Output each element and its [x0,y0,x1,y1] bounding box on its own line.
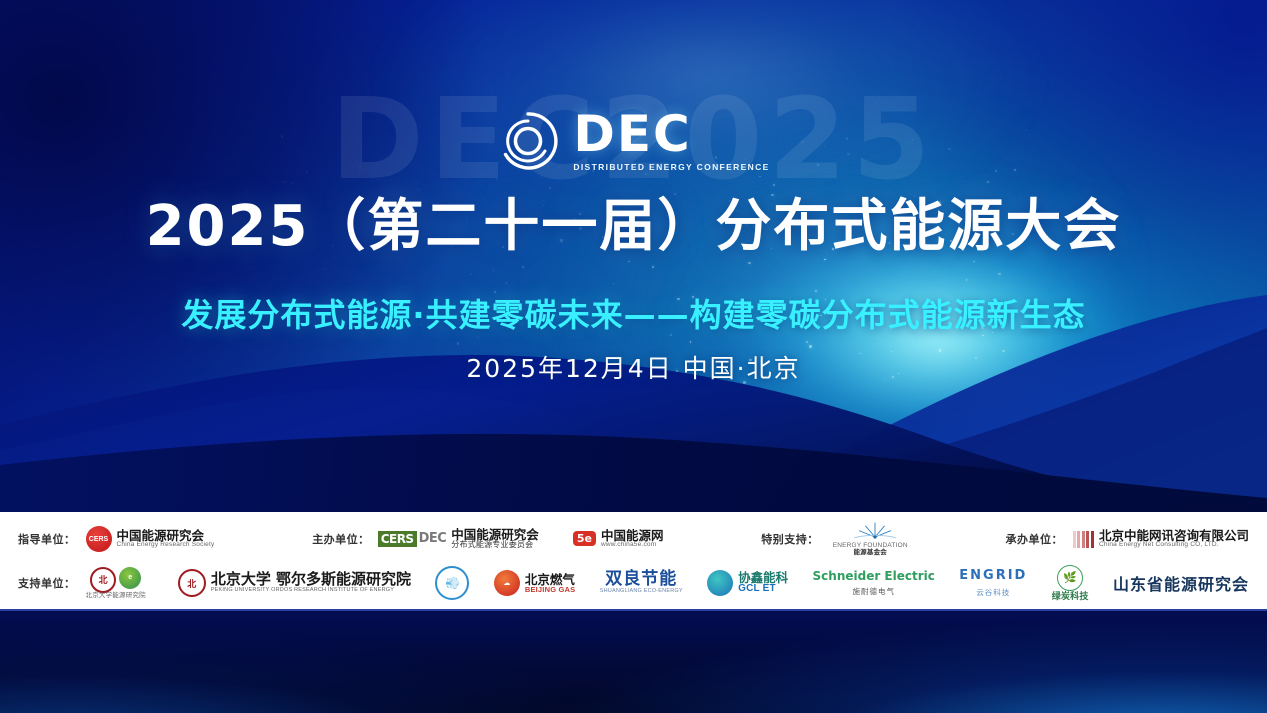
sponsor-pku-ordos[interactable]: 北 北京大学 鄂尔多斯能源研究院 PEKING UNIVERSITY ORDOS… [178,569,411,597]
sponsor-name-cn: 云谷科技 [976,589,1010,597]
sponsor-cers-dec[interactable]: CERSDEC 中国能源研究会 分布式能源专业委员会 [378,528,539,550]
sponsor-china-energy-net[interactable]: 北京中能网讯咨询有限公司 China Energy Net Consulting… [1073,529,1249,549]
energy-foundation-starburst-icon [849,521,891,543]
sponsor-name-cn: 北京燃气 [525,573,576,586]
sponsor-shuangliang[interactable]: 双良节能 SHUANGLIANG ECO-ENERGY [600,571,683,595]
sponsor-gcl-et[interactable]: 协鑫能科 GCL ET [707,570,788,596]
china-energy-net-bars-icon [1073,531,1094,548]
sponsor-name-sub: 分布式能源专业委员会 [451,541,539,549]
page-title: 2025（第二十一届）分布式能源大会 [0,196,1267,258]
pku-energy-leaf-icon: e [119,567,141,589]
blue-flame-circle-icon: 💨 [435,566,469,600]
sponsor-label-organizer: 承办单位： [1005,531,1063,547]
sponsor-blue-flame[interactable]: 💨 [435,566,469,600]
cers-seal-icon: CERS [86,526,112,552]
sponsor-label-support: 支持单位： [18,575,76,591]
dec-wordmark: DEC [573,110,691,159]
sponsor-shandong-society[interactable]: 山东省能源研究会 [1113,571,1249,595]
conference-banner: DEC2025 DEC DISTRIBUTED ENERGY CONFERENC… [0,0,1267,713]
sponsor-pku-energy[interactable]: 北 e 北京大学能源研究院 [86,567,146,600]
sponsor-name-en: PEKING UNIVERSITY ORDOS RESEARCH INSTITU… [211,588,411,594]
sponsor-group-special-support: ENERGY FOUNDATION 能源基金会 [833,521,908,557]
sponsor-name-en: www.china5e.com [601,542,664,549]
sponsor-name-cn: 能源基金会 [853,550,887,557]
sponsor-name-en: China Energy Research Society [117,542,215,549]
bottom-gradient-area [0,611,1267,713]
sponsor-name-cn: 绿炭科技 [1052,592,1089,601]
sponsor-group-host: CERSDEC 中国能源研究会 分布式能源专业委员会 5e 中国能源网 www.… [378,528,664,550]
sponsor-row-support: 支持单位： 北 e 北京大学能源研究院 北 北京大学 鄂尔多斯能源研究院 PEK… [0,562,1267,604]
sponsor-group-support: 北 e 北京大学能源研究院 [86,567,146,600]
sponsor-group-organizer: 北京中能网讯咨询有限公司 China Energy Net Consulting… [1073,529,1249,549]
sponsor-label-special-support: 特别支持： [761,531,819,547]
sponsor-energy-foundation[interactable]: ENERGY FOUNDATION 能源基金会 [833,521,908,557]
sponsor-group-pku-ordos: 北 北京大学 鄂尔多斯能源研究院 PEKING UNIVERSITY ORDOS… [178,569,411,597]
sponsor-label-guidance: 指导单位： [18,531,76,547]
sponsor-name-cn: 北京大学 鄂尔多斯能源研究院 [211,572,411,588]
sponsor-group-guidance: CERS 中国能源研究会 China Energy Research Socie… [86,526,215,552]
cers-dec-icon: CERSDEC [378,531,447,547]
sponsor-green-carbon[interactable]: 🌿 绿炭科技 [1052,565,1089,601]
sponsor-bar: 指导单位： CERS 中国能源研究会 China Energy Research… [0,512,1267,611]
sponsor-label-host: 主办单位： [312,531,370,547]
sponsor-name-en: ENGRID [959,569,1027,583]
gcl-et-icon [707,570,733,596]
sponsor-name-cn: 北京大学能源研究院 [86,593,146,600]
sponsor-name-en: GCL ET [738,584,788,595]
beijing-gas-icon: ☁ [494,570,520,596]
sponsor-row-primary: 指导单位： CERS 中国能源研究会 China Energy Research… [0,518,1267,560]
pku-ordos-icon: 北 [178,569,206,597]
dec-logo-lockup: DEC DISTRIBUTED ENERGY CONFERENCE [0,110,1267,172]
sponsor-engrid[interactable]: ENGRID 云谷科技 [959,569,1027,597]
sponsor-name-en: SHUANGLIANG ECO-ENERGY [600,589,683,595]
sponsor-name-en: China Energy Net Consulting CO, LTD. [1099,542,1249,549]
china5e-icon: 5e [573,531,596,546]
dec-wordmark-block: DEC DISTRIBUTED ENERGY CONFERENCE [573,110,769,172]
sponsor-name-en: Schneider Electric [813,570,935,583]
page-subtitle: 发展分布式能源·共建零碳未来——构建零碳分布式能源新生态 [0,297,1267,334]
sponsor-china5e[interactable]: 5e 中国能源网 www.china5e.com [573,529,664,549]
sponsor-name-cn: 施耐德电气 [852,588,895,596]
dec-tagline: DISTRIBUTED ENERGY CONFERENCE [573,162,769,172]
sponsor-beijing-gas[interactable]: ☁ 北京燃气 BEIJING GAS [494,570,576,596]
sponsor-cers[interactable]: CERS 中国能源研究会 China Energy Research Socie… [86,526,215,552]
dec-ring-logo-icon [497,110,559,172]
pku-energy-institute-icon: 北 [90,567,116,593]
sponsor-schneider[interactable]: Schneider Electric 施耐德电气 [813,570,935,595]
event-date-location: 2025年12月4日 中国·北京 [0,349,1267,385]
sponsor-name-en: BEIJING GAS [525,586,576,594]
sponsor-name-cn: 双良节能 [605,571,677,589]
green-carbon-icon: 🌿 [1057,565,1083,591]
shandong-society-icon: 山东省能源研究会 [1113,571,1249,595]
